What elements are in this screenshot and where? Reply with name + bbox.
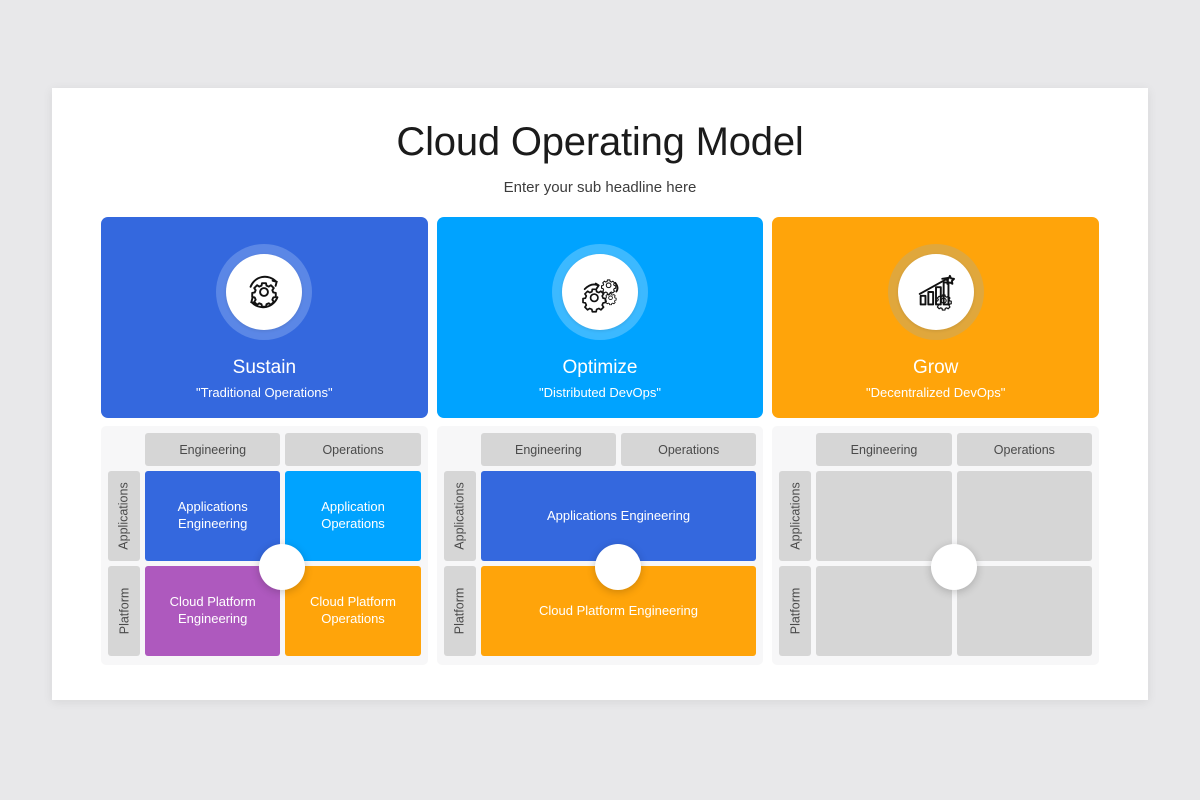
matrix-row-header-label: Applications bbox=[788, 482, 802, 549]
matrix-cell-empty[interactable] bbox=[957, 566, 1092, 656]
matrix-center-hub bbox=[931, 544, 977, 590]
icon-ring bbox=[888, 244, 984, 340]
column-sustain: Sustain"Traditional Operations"Engineeri… bbox=[101, 217, 428, 665]
matrix-row-header-label: Platform bbox=[117, 588, 131, 635]
stage-card-grow[interactable]: Grow"Decentralized DevOps" bbox=[772, 217, 1099, 418]
multi-gears-icon bbox=[562, 254, 638, 330]
matrix-col-header: Operations bbox=[285, 433, 420, 466]
icon-ring bbox=[216, 244, 312, 340]
matrix-column-headers: EngineeringOperations bbox=[816, 433, 1092, 466]
matrix-col-header: Engineering bbox=[481, 433, 616, 466]
matrix-col-header: Operations bbox=[957, 433, 1092, 466]
page-subtitle: Enter your sub headline here bbox=[52, 179, 1148, 196]
matrix-cell[interactable]: Cloud Platform Engineering bbox=[145, 566, 280, 656]
icon-ring bbox=[552, 244, 648, 340]
matrix-col-header: Operations bbox=[621, 433, 756, 466]
growth-chart-gear-icon bbox=[898, 254, 974, 330]
stage-title: Sustain bbox=[233, 357, 296, 380]
matrix-center-hub bbox=[259, 544, 305, 590]
matrix-row-header: Platform bbox=[444, 566, 476, 656]
matrix-center-hub bbox=[595, 544, 641, 590]
stage-title: Grow bbox=[913, 357, 958, 380]
matrix-col-header: Engineering bbox=[816, 433, 951, 466]
stage-card-optimize[interactable]: Optimize"Distributed DevOps" bbox=[437, 217, 764, 418]
matrix-row-header-label: Platform bbox=[453, 588, 467, 635]
matrix-row: ApplicationsApplications EngineeringAppl… bbox=[108, 471, 421, 561]
gear-cycle-icon bbox=[226, 254, 302, 330]
matrix-row-header-label: Applications bbox=[453, 482, 467, 549]
matrix-row: ApplicationsApplications Engineering bbox=[444, 471, 757, 561]
matrix-cell-empty[interactable] bbox=[957, 471, 1092, 561]
matrix-col-header: Engineering bbox=[145, 433, 280, 466]
column-grow: Grow"Decentralized DevOps"EngineeringOpe… bbox=[772, 217, 1099, 665]
matrix-row-header: Applications bbox=[108, 471, 140, 561]
matrix-column-headers: EngineeringOperations bbox=[145, 433, 421, 466]
page-title: Cloud Operating Model bbox=[52, 120, 1148, 165]
matrix-cell-empty[interactable] bbox=[816, 471, 951, 561]
stage-subtitle: "Decentralized DevOps" bbox=[866, 385, 1005, 400]
column-optimize: Optimize"Distributed DevOps"EngineeringO… bbox=[437, 217, 764, 665]
matrix-row-header: Applications bbox=[779, 471, 811, 561]
stage-title: Optimize bbox=[563, 357, 638, 380]
slide-surface: Cloud Operating Model Enter your sub hea… bbox=[52, 88, 1148, 700]
matrix-cell[interactable]: Applications Engineering bbox=[145, 471, 280, 561]
matrix-panel-optimize: EngineeringOperationsApplicationsApplica… bbox=[437, 426, 764, 665]
matrix-column-headers: EngineeringOperations bbox=[481, 433, 757, 466]
columns-container: Sustain"Traditional Operations"Engineeri… bbox=[101, 217, 1099, 665]
matrix-row-header: Applications bbox=[444, 471, 476, 561]
matrix-cell[interactable]: Application Operations bbox=[285, 471, 420, 561]
matrix-panel-sustain: EngineeringOperationsApplicationsApplica… bbox=[101, 426, 428, 665]
stage-subtitle: "Traditional Operations" bbox=[196, 385, 333, 400]
matrix-cell[interactable]: Cloud Platform Operations bbox=[285, 566, 420, 656]
matrix-row: Applications bbox=[779, 471, 1092, 561]
stage-subtitle: "Distributed DevOps" bbox=[539, 385, 661, 400]
matrix-cell-empty[interactable] bbox=[816, 566, 951, 656]
matrix-panel-grow: EngineeringOperationsApplicationsPlatfor… bbox=[772, 426, 1099, 665]
matrix-row-header-label: Platform bbox=[788, 588, 802, 635]
matrix-row-header-label: Applications bbox=[117, 482, 131, 549]
matrix-row-header: Platform bbox=[779, 566, 811, 656]
matrix-row-header: Platform bbox=[108, 566, 140, 656]
stage-card-sustain[interactable]: Sustain"Traditional Operations" bbox=[101, 217, 428, 418]
